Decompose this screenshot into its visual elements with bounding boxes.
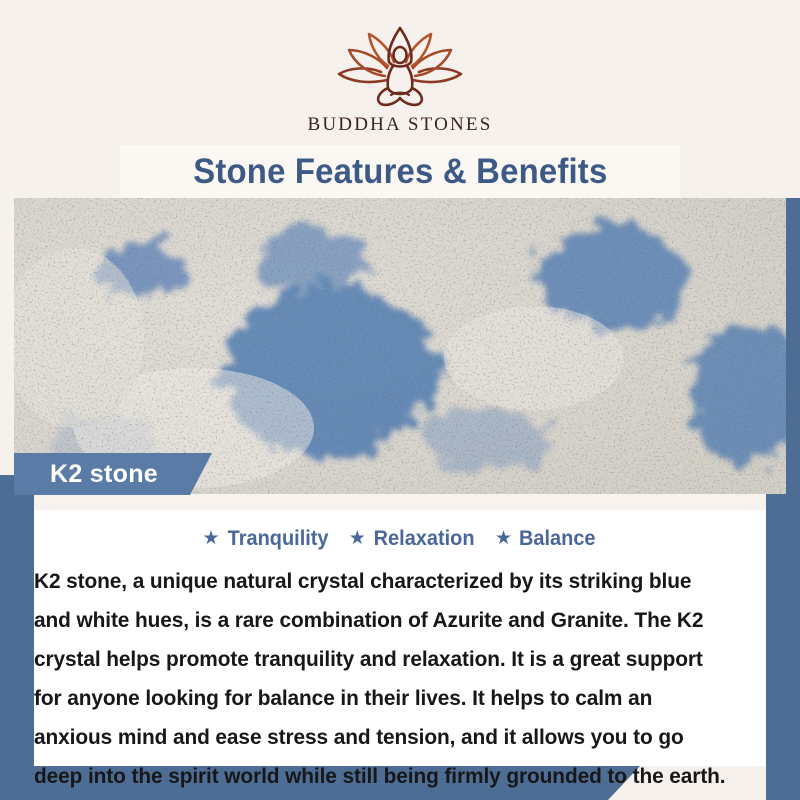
content-card: ★ Tranquility ★ Relaxation ★ Balance K2 … [34,494,766,766]
frame-accent-left [0,475,34,800]
benefit-item: ★ Relaxation [349,527,477,551]
product-info-poster: BUDDHA STONES [0,0,800,800]
stone-name-label: K2 stone [50,460,158,489]
card-top-tint [34,494,766,510]
star-icon: ★ [349,529,366,548]
title-banner: Stone Features & Benefits [120,145,680,198]
stone-description: K2 stone, a unique natural crystal chara… [34,562,744,796]
brand-logo: BUDDHA STONES [0,22,800,136]
lotus-meditation-figure-icon [325,22,475,110]
page-title: Stone Features & Benefits [193,152,607,192]
star-icon: ★ [202,529,219,548]
benefit-label: Balance [519,527,596,551]
benefit-label: Tranquility [227,527,328,551]
star-icon: ★ [495,529,512,548]
benefit-label: Relaxation [373,527,474,551]
benefits-row: ★ Tranquility ★ Relaxation ★ Balance [34,527,766,551]
benefit-item: ★ Balance [495,527,598,551]
brand-name: BUDDHA STONES [307,114,492,136]
stone-name-badge: K2 stone [14,453,212,495]
benefit-item: ★ Tranquility [202,527,330,551]
k2-stone-closeup-photo [14,198,786,494]
